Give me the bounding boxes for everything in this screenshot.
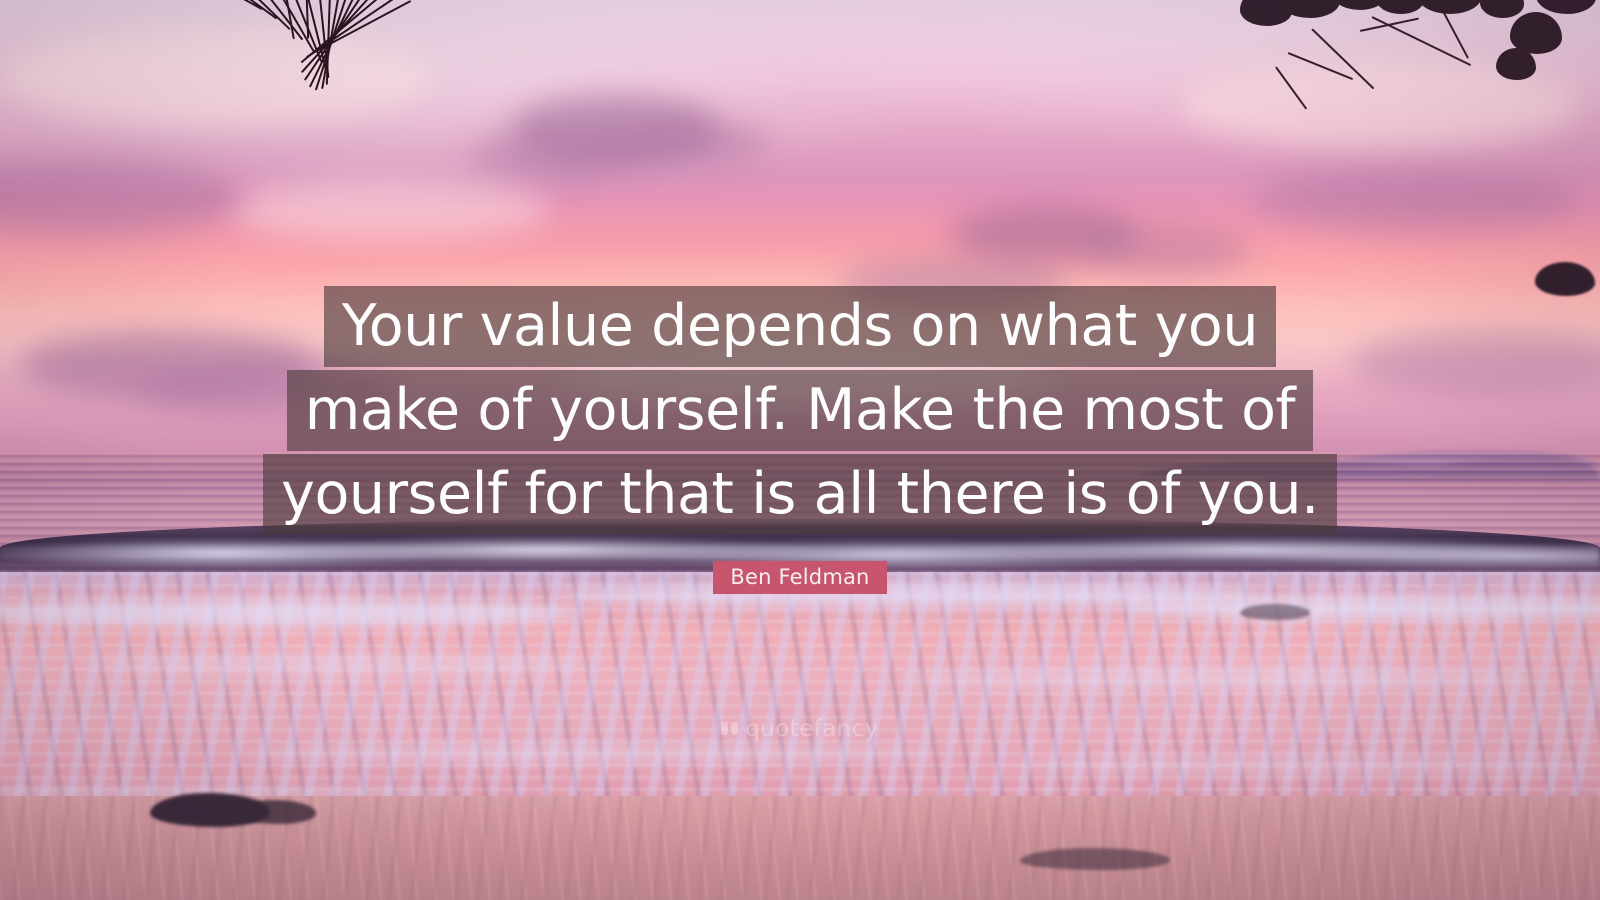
quote-line-text: Your value depends on what you — [324, 286, 1276, 367]
leaf — [1416, 0, 1482, 14]
quote-line-text: yourself for that is all there is of you… — [263, 454, 1337, 535]
leaf — [1480, 0, 1524, 18]
quote-line-text: make of yourself. Make the most of — [287, 370, 1313, 451]
cloud — [470, 130, 640, 182]
foam-streak — [900, 668, 1540, 688]
quote-text-block: Your value depends on what you make of y… — [0, 286, 1600, 535]
quote-line: make of yourself. Make the most of — [0, 370, 1600, 451]
rock — [236, 800, 316, 824]
quote-line: Your value depends on what you — [0, 286, 1600, 367]
quote-wallpaper: Your value depends on what you make of y… — [0, 0, 1600, 900]
rock — [1020, 848, 1170, 870]
cloud — [620, 120, 770, 166]
cloud — [1080, 225, 1250, 275]
rock — [1240, 604, 1310, 620]
foam-streak — [80, 656, 600, 674]
foam-streak — [240, 744, 940, 764]
twig — [1360, 18, 1419, 32]
twig — [1311, 28, 1374, 89]
branch-silhouette — [1180, 0, 1600, 94]
leaf — [1496, 48, 1536, 80]
watermark: quotefancy — [0, 718, 1600, 742]
quote-line: yourself for that is all there is of you… — [0, 454, 1600, 535]
foam-streak — [1000, 756, 1600, 774]
twig — [1288, 52, 1353, 80]
cloud — [230, 180, 550, 240]
watermark-label: quotefancy — [745, 718, 878, 741]
leaf — [1376, 0, 1424, 14]
author-attribution: Ben Feldman — [0, 561, 1600, 594]
cloud — [1250, 170, 1580, 232]
leaf — [1536, 0, 1596, 14]
author-name-badge: Ben Feldman — [713, 561, 886, 594]
quote-mark-icon — [721, 722, 738, 737]
